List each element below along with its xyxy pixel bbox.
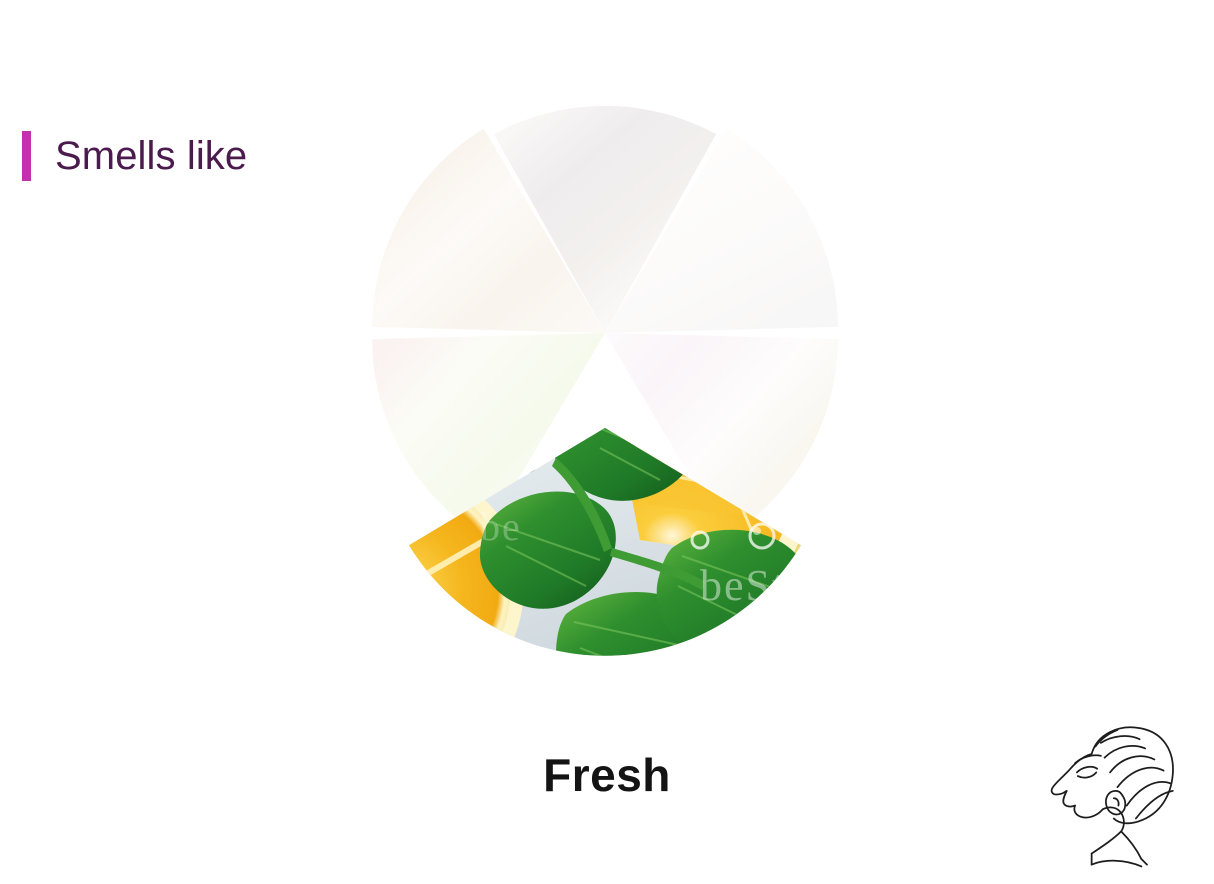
pie-slice-fresh-photo: beSt be	[270, 377, 950, 740]
face-profile-sniffing-icon	[1040, 706, 1206, 872]
page-title: Smells like	[55, 136, 247, 176]
title-accent-bar	[22, 131, 31, 181]
page-title-block: Smells like	[22, 128, 247, 184]
stock-watermark: beSt	[700, 561, 786, 610]
face-profile-svg	[1040, 706, 1206, 872]
stock-watermark-2: be	[480, 504, 522, 549]
pie-slice-fresh[interactable]: beSt be	[270, 377, 950, 740]
